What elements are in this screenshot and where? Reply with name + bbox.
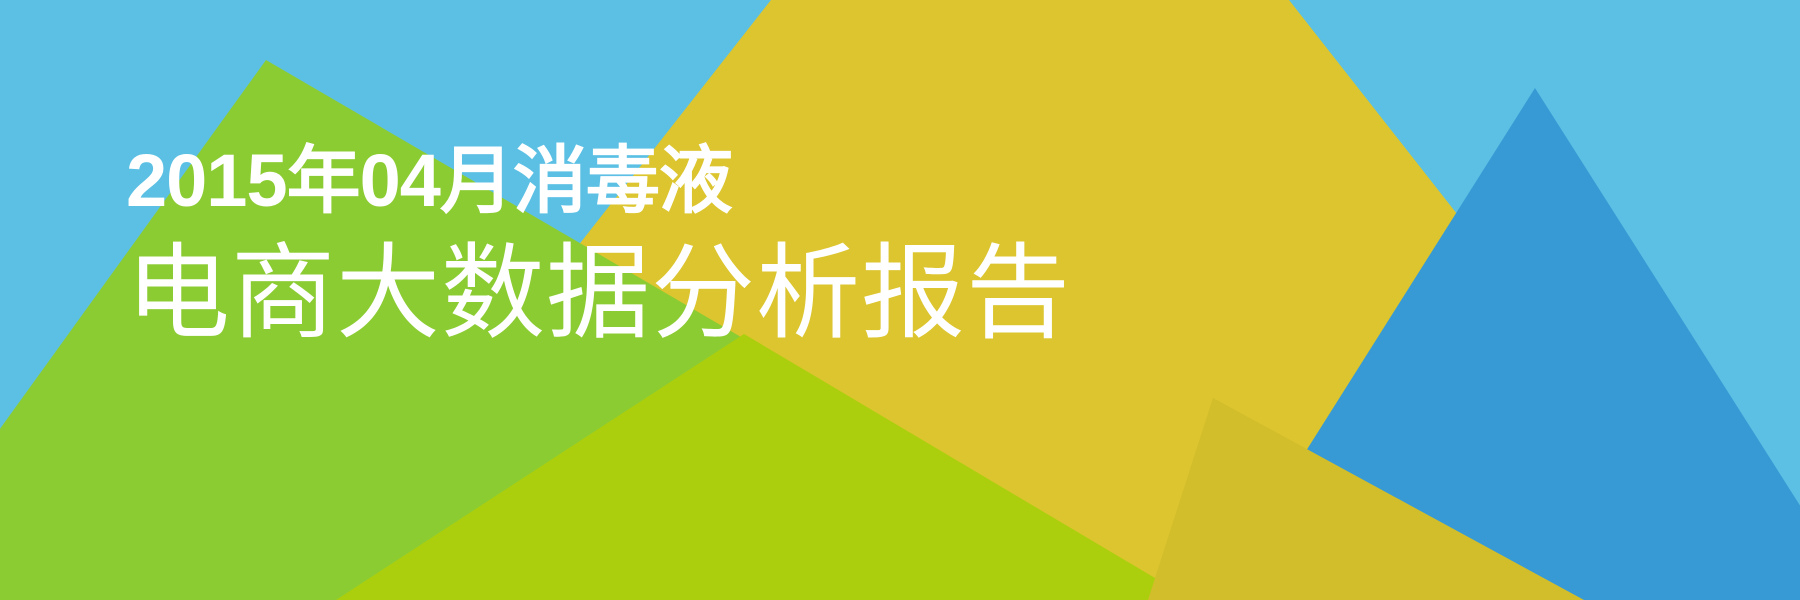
background-graphic [0,0,1800,600]
report-cover-slide: 2015年04月消毒液 电商大数据分析报告 [0,0,1800,600]
